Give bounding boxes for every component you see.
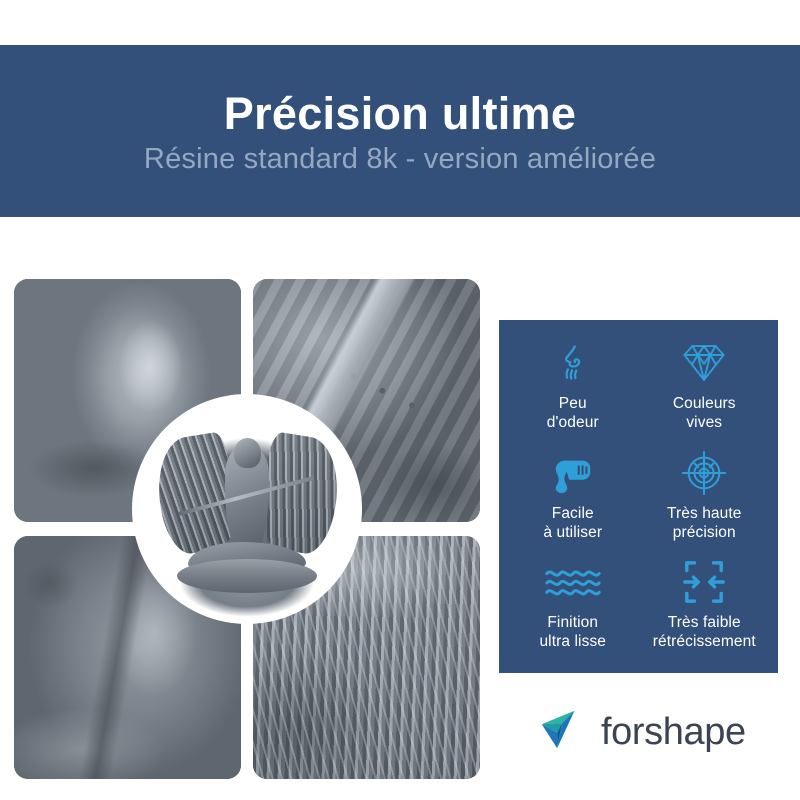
feature-label: Facile à utiliser — [543, 505, 602, 543]
feature-peu-d-odeur: Peu d'odeur — [507, 332, 639, 442]
feature-facile-a-utiliser: Facile à utiliser — [507, 442, 639, 552]
forshape-mark-icon — [536, 704, 586, 759]
crosshair-target-icon — [681, 448, 727, 498]
forshape-wordmark: forshape — [601, 713, 746, 751]
page-title: Précision ultime — [224, 90, 576, 137]
nose-smell-icon — [551, 338, 595, 388]
brand-logo[interactable]: forshape — [536, 704, 746, 759]
figure-base — [177, 559, 317, 593]
gallery-center-circle[interactable] — [139, 401, 355, 617]
product-image-gallery — [14, 279, 480, 779]
feature-tres-faible-retrecissement: Très faible rétrécissement — [639, 551, 771, 661]
figure-hood — [234, 438, 261, 468]
features-panel: Peu d'odeur Couleurs vives — [499, 320, 778, 673]
feature-label: Peu d'odeur — [547, 395, 599, 433]
feature-label: Finition ultra lisse — [539, 614, 606, 652]
feature-finition-ultra-lisse: Finition ultra lisse — [507, 551, 639, 661]
header-banner: Précision ultime Résine standard 8k - ve… — [0, 45, 800, 217]
full-miniature — [139, 401, 355, 617]
feature-tres-haute-precision: Très haute précision — [639, 442, 771, 552]
page-subtitle: Résine standard 8k - version améliorée — [144, 144, 656, 176]
shrink-arrows-icon — [681, 557, 727, 607]
feature-label: Couleurs vives — [673, 395, 736, 433]
pouring-bottle-icon — [550, 448, 596, 498]
feature-couleurs-vives: Couleurs vives — [639, 332, 771, 442]
content-area: Peu d'odeur Couleurs vives — [0, 217, 800, 800]
feature-label: Très haute précision — [667, 505, 742, 543]
smooth-waves-icon — [544, 557, 602, 607]
feature-label: Très faible rétrécissement — [653, 614, 756, 652]
diamond-icon — [679, 338, 729, 388]
